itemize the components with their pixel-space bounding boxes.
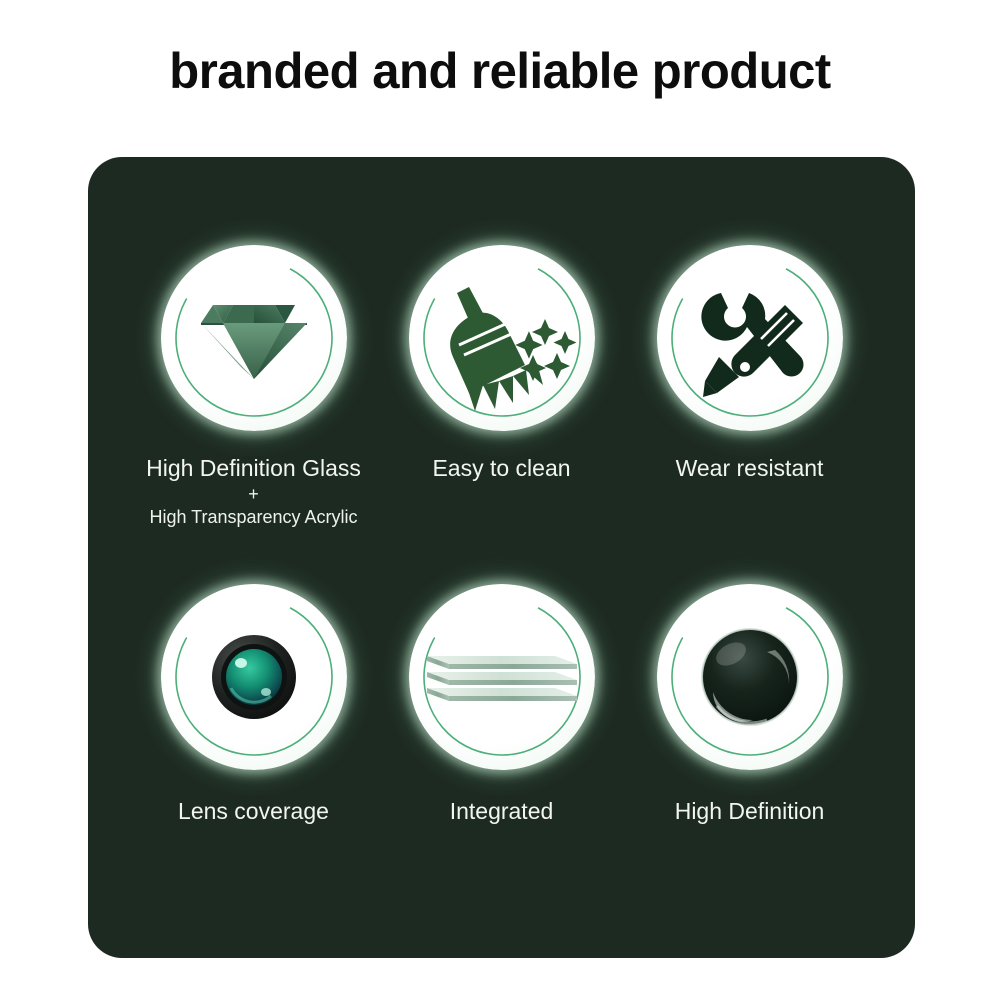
icon-badge: [161, 584, 347, 770]
feature-item-high-definition[interactable]: High Definition: [622, 584, 877, 826]
feature-item-wear-resistant[interactable]: Wear resistant: [622, 245, 877, 483]
feature-panel: High Definition Glass + High Transparenc…: [88, 157, 915, 958]
page-title: branded and reliable product: [10, 42, 990, 100]
glass-dome-icon: [657, 584, 843, 770]
icon-badge: [657, 245, 843, 431]
icon-badge: [161, 245, 347, 431]
infographic-page: branded and reliable product: [0, 0, 1000, 1000]
feature-sublabel: High Transparency Acrylic: [126, 505, 381, 529]
feature-label: Easy to clean: [374, 453, 629, 483]
icon-badge: [409, 584, 595, 770]
broom-sparkle-icon: [409, 245, 595, 431]
feature-label: Wear resistant: [622, 453, 877, 483]
icon-badge: [657, 584, 843, 770]
feature-label: Lens coverage: [126, 796, 381, 826]
diamond-icon: [161, 245, 347, 431]
feature-item-high-definition-glass[interactable]: High Definition Glass + High Transparenc…: [126, 245, 381, 529]
feature-label: High Definition Glass: [126, 453, 381, 483]
feature-item-easy-to-clean[interactable]: Easy to clean: [374, 245, 629, 483]
wrench-screwdriver-icon: [657, 245, 843, 431]
camera-lens-icon: [161, 584, 347, 770]
icon-badge: [409, 245, 595, 431]
feature-label: High Definition: [622, 796, 877, 826]
feature-label: Integrated: [374, 796, 629, 826]
feature-item-integrated[interactable]: Integrated: [374, 584, 629, 826]
feature-plus-separator: +: [126, 483, 381, 505]
glass-layers-icon: [409, 584, 595, 770]
feature-grid: High Definition Glass + High Transparenc…: [88, 157, 915, 958]
feature-item-lens-coverage[interactable]: Lens coverage: [126, 584, 381, 826]
